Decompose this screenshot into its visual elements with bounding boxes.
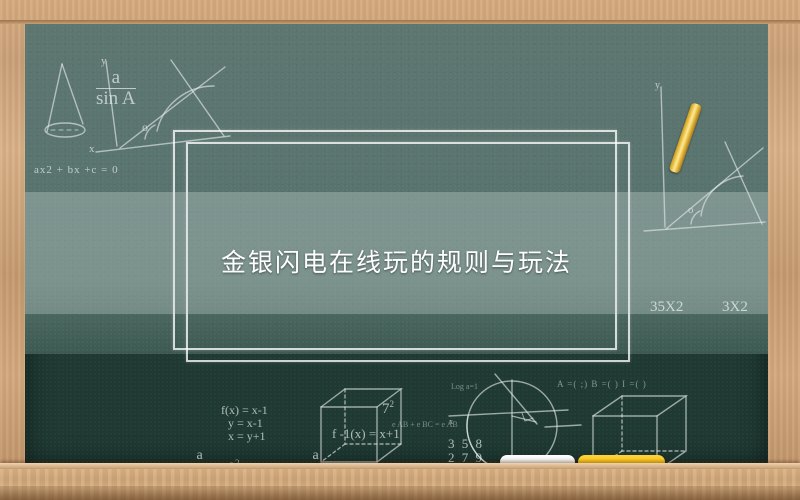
cube-1-side	[377, 389, 401, 462]
page-title: 金银闪电在线玩的规则与玩法	[25, 243, 768, 279]
cone-right-edge	[62, 64, 83, 124]
cube-2-top	[593, 396, 686, 416]
cube-2-hidden	[622, 396, 686, 451]
pointer-line	[545, 425, 581, 427]
blackboard-banner: a sin A y x o ax2 + bx +c = 0 y o 35X2 3…	[0, 0, 800, 500]
cube-1-hidden-2	[321, 444, 345, 462]
cube-1-top	[321, 389, 401, 407]
cube-1-front	[321, 407, 377, 462]
cube-1-hidden	[345, 389, 401, 444]
ledge-lip	[0, 463, 800, 469]
ledge-shadow	[0, 486, 800, 500]
circle-horizontal-axis	[449, 410, 568, 416]
chalkboard-surface: a sin A y x o ax2 + bx +c = 0 y o 35X2 3…	[25, 24, 768, 464]
cone-left-edge	[47, 64, 62, 132]
axis-y-line-1	[106, 61, 117, 146]
